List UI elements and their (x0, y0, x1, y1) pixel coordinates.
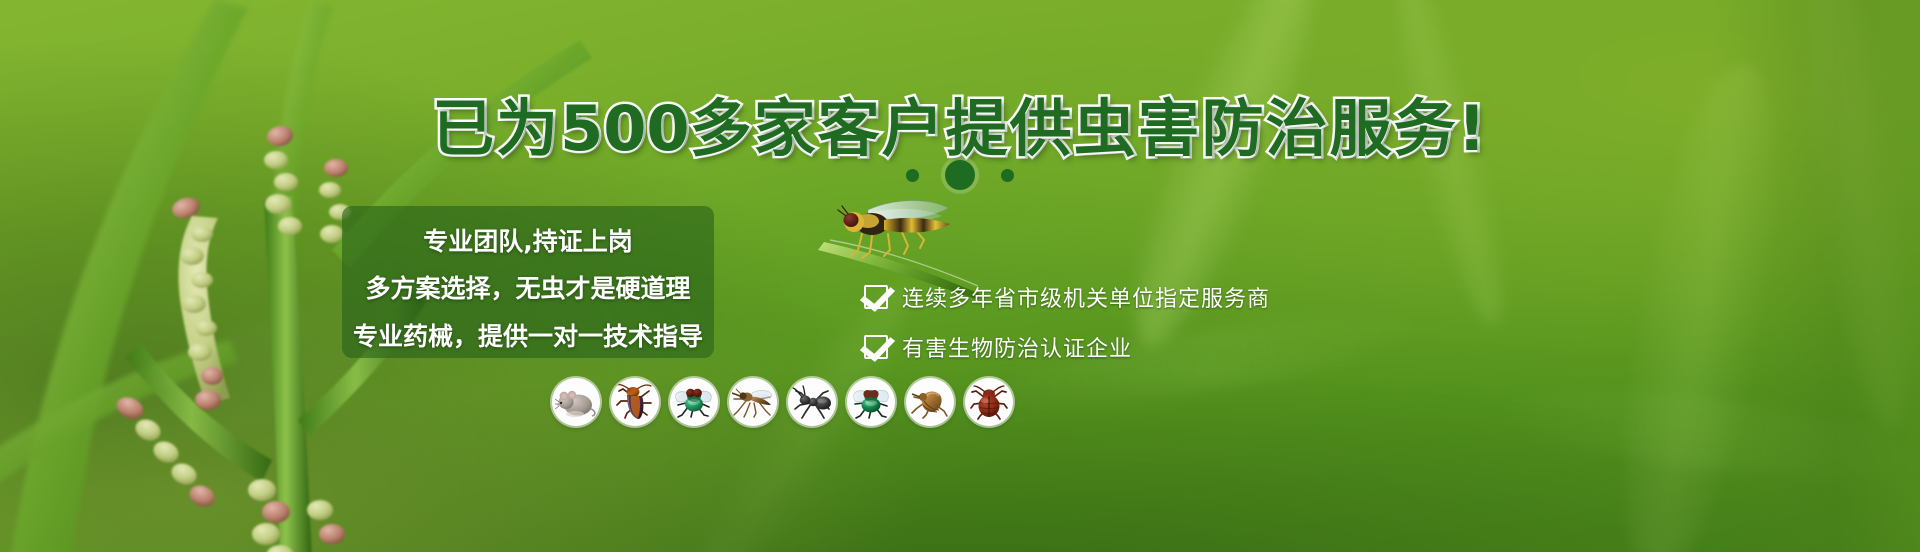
checkbox-checked-icon (864, 335, 888, 359)
list-item: 有害生物防治认证企业 (864, 322, 1484, 372)
ant-icon[interactable] (788, 378, 836, 426)
checklist-item-label: 连续多年省市级机关单位指定服务商 (902, 281, 1270, 313)
pest-types-row (552, 378, 1013, 426)
cockroach-icon[interactable] (611, 378, 659, 426)
selling-points-panel: 专业团队,持证上岗 多方案选择，无虫才是硬道理 专业药械，提供一对一技术指导 (342, 206, 714, 358)
selling-point-line-2: 多方案选择，无虫才是硬道理 (342, 265, 714, 313)
blowfly-icon[interactable] (670, 378, 718, 426)
bedbug-icon[interactable] (965, 378, 1013, 426)
headline-prefix: 已为 (432, 92, 560, 165)
checklist-item-label: 有害生物防治认证企业 (902, 331, 1132, 363)
mosquito-icon[interactable] (729, 378, 777, 426)
selling-point-line-1: 专业团队,持证上岗 (342, 219, 714, 265)
headline-number: 500 (560, 92, 689, 165)
selling-point-line-3: 专业药械，提供一对一技术指导 (342, 313, 714, 361)
dot-small-right (1001, 169, 1014, 182)
mouse-icon[interactable] (552, 378, 600, 426)
credentials-checklist: 连续多年省市级机关单位指定服务商 有害生物防治认证企业 (864, 272, 1484, 372)
decorative-dots (0, 160, 1920, 190)
dot-large-center (945, 160, 975, 190)
headline-suffix: 多家客户提供虫害防治服务! (690, 92, 1488, 165)
greenfly-icon[interactable] (847, 378, 895, 426)
flea-icon[interactable] (906, 378, 954, 426)
list-item: 连续多年省市级机关单位指定服务商 (864, 272, 1484, 322)
checkbox-checked-icon (864, 285, 888, 309)
page-title: 已为500多家客户提供虫害防治服务! (0, 78, 1920, 168)
pest-control-hero-banner: 已为500多家客户提供虫害防治服务! 专业团队,持证上岗 多方案选择，无虫才是硬… (0, 0, 1920, 552)
dot-small-left (906, 169, 919, 182)
